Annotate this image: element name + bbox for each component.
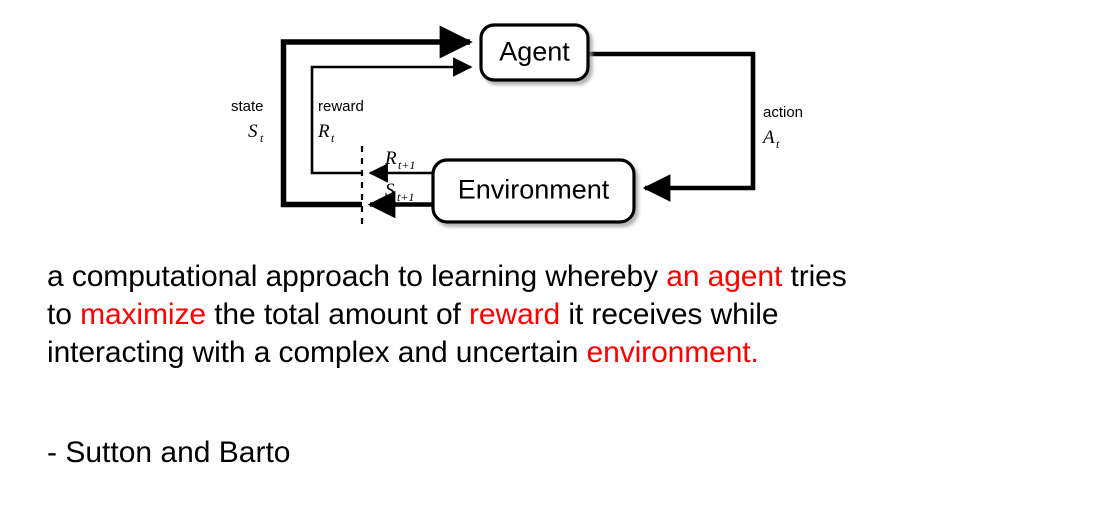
next-state-label-subscript: t+1 (397, 190, 414, 204)
quote-line: interacting with a complex and uncertain… (47, 334, 1077, 372)
quote-text-run: to (47, 298, 80, 331)
action-label-symbol: A (761, 127, 775, 148)
quote-text-run: the total amount of (206, 298, 469, 331)
agent-node[interactable]: Agent (481, 25, 588, 80)
reward-label-subscript: t (331, 131, 335, 145)
quote-line: a computational approach to learning whe… (47, 258, 1077, 296)
next-reward-label-symbol: R (384, 148, 397, 169)
environment-node[interactable]: Environment (433, 160, 634, 222)
state-label-subscript: t (260, 131, 264, 145)
reward-label-symbol: R (317, 121, 330, 142)
quote-text-run: tries (782, 260, 846, 293)
quote-text-run: it receives while (560, 298, 778, 331)
quote-highlight: environment. (587, 336, 759, 369)
agent-environment-diagram: Agent Environment state S t reward R t (0, 0, 1111, 250)
quote-text: a computational approach to learning whe… (47, 258, 1077, 372)
quote-text-run: a computational approach to learning whe… (47, 260, 666, 293)
state-edge-label: state S t (231, 98, 264, 145)
next-reward-edge-label: R t+1 (384, 148, 415, 172)
reward-edge-label: reward R t (317, 98, 364, 145)
quote-attribution: - Sutton and Barto (47, 434, 291, 472)
quote-highlight: reward (469, 298, 560, 331)
quote-line: to maximize the total amount of reward i… (47, 296, 1077, 334)
action-label-subscript: t (776, 137, 780, 151)
quote-highlight: an agent (666, 260, 782, 293)
quote-text-run: interacting with a complex and uncertain (47, 336, 587, 369)
reward-label-word: reward (318, 98, 364, 115)
next-state-edge-label: S t+1 (385, 180, 414, 204)
environment-label: Environment (458, 175, 610, 205)
slide-canvas: Agent Environment state S t reward R t (0, 0, 1111, 510)
quote-highlight: maximize (80, 298, 206, 331)
action-edge-label: action A t (761, 104, 803, 151)
state-label-symbol: S (248, 121, 258, 142)
next-reward-label-subscript: t+1 (398, 158, 415, 172)
action-label-word: action (763, 104, 803, 121)
state-label-word: state (231, 98, 264, 115)
next-state-label-symbol: S (385, 180, 395, 201)
agent-label: Agent (499, 37, 570, 67)
